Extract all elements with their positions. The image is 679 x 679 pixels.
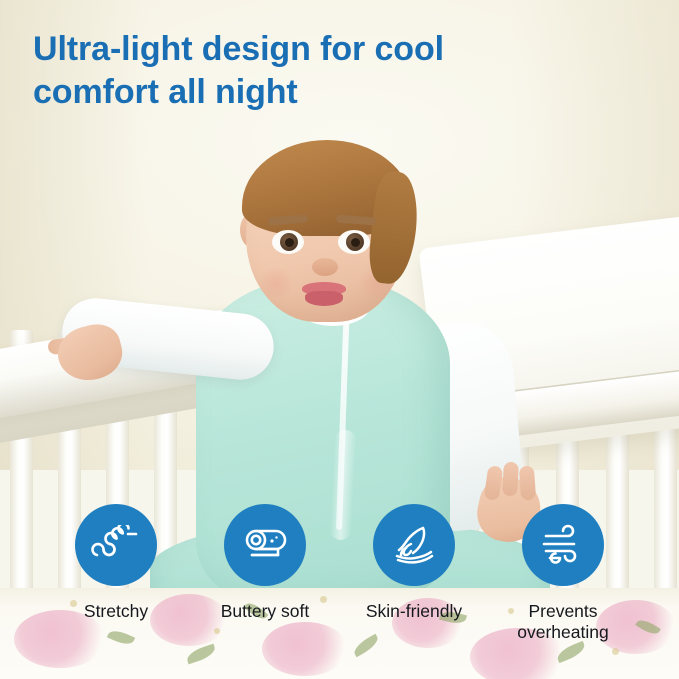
baby-nose — [312, 258, 338, 276]
product-feature-image: Ultra-light design for cool comfort all … — [0, 0, 679, 679]
baby-cheek-left — [256, 268, 296, 298]
page-title: Ultra-light design for cool comfort all … — [33, 28, 573, 114]
feature-skin-friendly: Skin-friendly — [344, 504, 484, 679]
stretchy-badge — [75, 504, 157, 586]
baby-lip-lower — [305, 291, 343, 306]
buttery-soft-badge — [224, 504, 306, 586]
wind-breeze-icon — [538, 524, 588, 566]
baby-eye-right — [338, 230, 370, 254]
hand-touching-fabric-icon — [389, 523, 439, 567]
feature-buttery-soft: Buttery soft — [195, 504, 335, 679]
headline-line-1: Ultra-light design for cool — [33, 28, 573, 71]
feature-label: Prevents overheating — [517, 601, 608, 642]
feature-prevents-overheating: Prevents overheating — [493, 504, 633, 679]
headline-line-2: comfort all night — [33, 71, 573, 114]
baby-eye-left — [272, 230, 304, 254]
feature-label: Skin-friendly — [366, 601, 462, 622]
feature-label: Stretchy — [84, 601, 148, 622]
feature-label: Buttery soft — [221, 601, 310, 622]
feature-badge-row: Stretchy Buttery soft — [0, 504, 679, 679]
skin-friendly-badge — [373, 504, 455, 586]
feature-stretchy: Stretchy — [46, 504, 186, 679]
fabric-roll-icon — [241, 525, 289, 565]
spring-coil-icon — [91, 525, 141, 565]
prevents-overheating-badge — [522, 504, 604, 586]
